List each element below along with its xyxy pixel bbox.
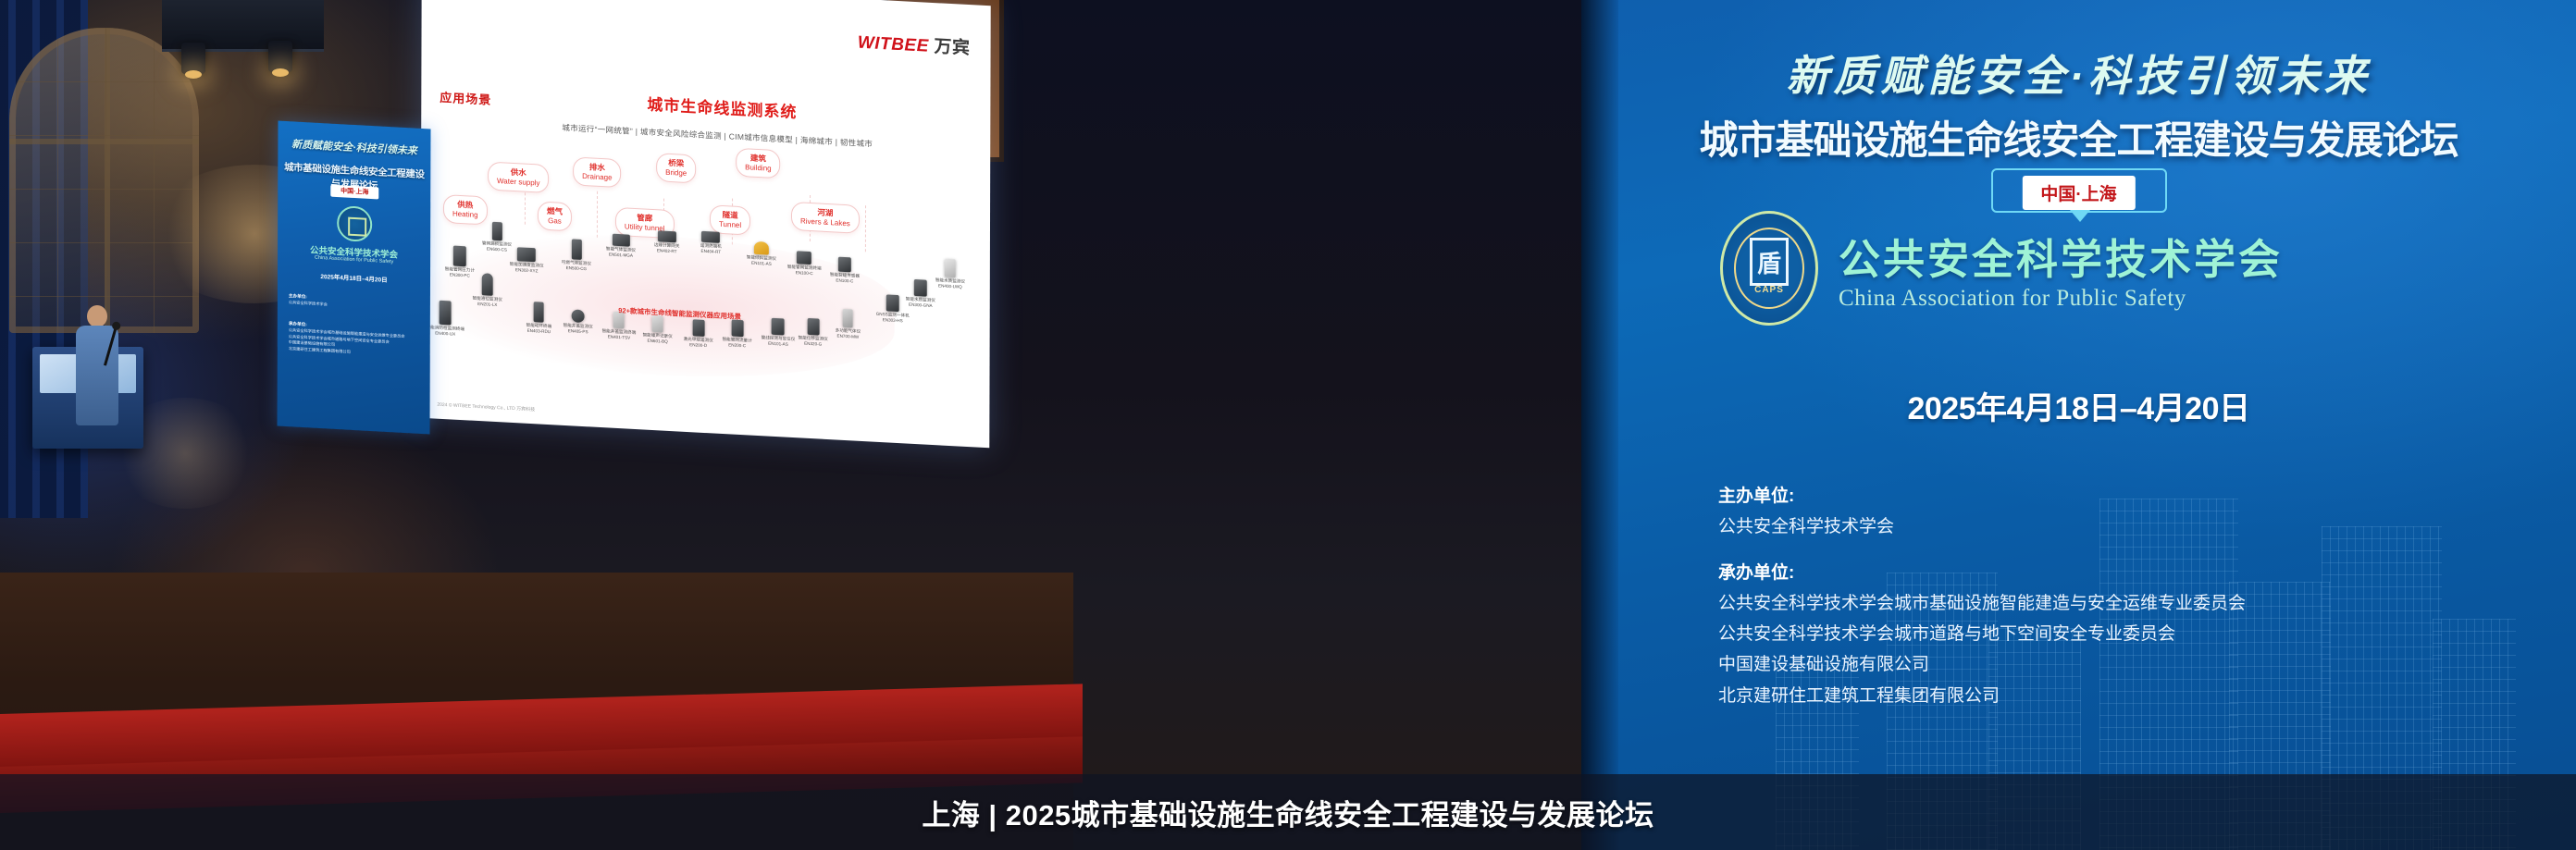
device-item[interactable]: 智能加速度监测仪EN302-XYZ bbox=[510, 247, 544, 275]
bubble-water-supply[interactable]: 供水 Water supply bbox=[488, 162, 549, 193]
caps-seal-icon: 盾 CAPS bbox=[1720, 211, 1818, 326]
poster-host: 公共安全科学技术学会 bbox=[289, 300, 328, 306]
slide-title: 城市生命线监测系统 bbox=[569, 87, 874, 126]
caption-bar: 上海 | 2025城市基础设施生命线安全工程建设与发展论坛 bbox=[0, 774, 2576, 850]
device-item[interactable]: 智能管网流量计EN200-C bbox=[723, 319, 752, 350]
bubble-tunnel[interactable]: 隧道 Tunnel bbox=[710, 204, 750, 235]
spotlight-1 bbox=[181, 43, 205, 74]
sensor-icon bbox=[482, 273, 493, 296]
device-item[interactable]: 边缘计算网关EN402-RT bbox=[654, 230, 680, 255]
bubble-label-en: Building bbox=[745, 163, 771, 174]
bubble-label-en: Bridge bbox=[665, 167, 687, 178]
device-model: EN404-RT bbox=[701, 249, 722, 254]
poster-host-block: 主办单位: 公共安全科学技术学会 bbox=[289, 292, 423, 314]
device-item[interactable]: 智能水质监测仪EN400-LWQ bbox=[935, 258, 965, 290]
device-name: 智能管网流量计 bbox=[723, 337, 752, 343]
caption-text: 上海 | 2025城市基础设施生命线安全工程建设与发展论坛 bbox=[922, 792, 1653, 833]
device-model: EN200-C bbox=[728, 343, 746, 349]
poster-slogan: 新质赋能安全·科技引领未来 bbox=[283, 136, 425, 158]
conference-photo: WITBEE 万宾 应用场景 城市生命线监测系统 城市运行“一网统管” | 城市… bbox=[0, 0, 2576, 850]
sensor-icon bbox=[571, 239, 581, 260]
device-model: EN303-HS bbox=[883, 317, 903, 323]
bubble-connector bbox=[865, 205, 866, 252]
device-item[interactable]: 管网漏损监测仪EN600-CS bbox=[482, 221, 512, 253]
banner-host: 公共安全科学技术学会 bbox=[1718, 511, 2246, 542]
device-model: EN501-MGA bbox=[609, 253, 633, 258]
device-model: EN100-C bbox=[796, 270, 813, 276]
banner-assoc-cn: 公共安全科学技术学会 bbox=[1839, 226, 2283, 286]
device-name: 激光甲烷遥测仪 bbox=[684, 337, 713, 343]
bubble-label-en: Water supply bbox=[497, 177, 539, 188]
presentation-slide: WITBEE 万宾 应用场景 城市生命线监测系统 城市运行“一网统管” | 城市… bbox=[420, 0, 990, 448]
slide-footer: 2024 © WITBEE Technology Co., LTD 万宾科技 bbox=[437, 401, 535, 413]
sensor-icon bbox=[491, 222, 502, 241]
device-name: 智能管网监测终端 bbox=[787, 265, 822, 271]
device-model: EN400-LWQ bbox=[938, 284, 962, 289]
gateway-icon bbox=[701, 231, 720, 243]
bubble-label-cn: 隧道 bbox=[719, 210, 741, 221]
sensor-icon bbox=[692, 319, 704, 337]
arched-window bbox=[9, 28, 199, 333]
banner-organizer: 公共安全科学技术学会城市基础设施智能建造与安全运维专业委员会 bbox=[1718, 588, 2246, 619]
sensor-icon bbox=[797, 251, 811, 265]
device-name: 智能位移监测仪 bbox=[799, 335, 828, 341]
sensor-icon bbox=[838, 257, 851, 273]
device-model: EN320-G bbox=[804, 341, 822, 347]
gateway-icon bbox=[658, 230, 676, 242]
device-model: EN101-AS bbox=[751, 261, 772, 266]
sensor-icon bbox=[731, 319, 743, 337]
stage-led-poster: 新质赋能安全·科技引领未来 城市基础设施生命线安全工程建设与发展论坛 中国·上海… bbox=[278, 120, 431, 434]
banner-organizer: 中国建设基础设施有限公司 bbox=[1718, 649, 2246, 680]
device-model: EN405-PS bbox=[568, 328, 588, 334]
banner-slogan: 新质赋能安全·科技引领未来 bbox=[1581, 43, 2576, 104]
device-item[interactable]: 智能位移监测仪EN320-G bbox=[799, 317, 828, 348]
presenter-head bbox=[87, 305, 107, 327]
banner-organizer: 北京建研住工建筑工程集团有限公司 bbox=[1718, 681, 2246, 711]
device-model: EN300-PC bbox=[450, 273, 470, 278]
device-item[interactable]: 可燃气体监测仪EN500-CG bbox=[562, 239, 591, 273]
window-grid bbox=[9, 28, 199, 333]
device-name: 智能消防栓监测终端 bbox=[427, 325, 464, 331]
bubble-heating[interactable]: 供热 Heating bbox=[443, 194, 488, 225]
bubble-drainage[interactable]: 排水 Drainage bbox=[573, 156, 622, 187]
device-model: EN401-TSV bbox=[608, 335, 631, 340]
bubble-gas[interactable]: 燃气 Gas bbox=[538, 201, 572, 231]
device-item[interactable]: 遥测终端机EN404-RT bbox=[700, 231, 722, 256]
poster-caps-seal bbox=[337, 205, 372, 242]
caps-abbr: CAPS bbox=[1723, 285, 1815, 295]
device-model: EN600-CS bbox=[487, 247, 507, 253]
spacer bbox=[1718, 543, 2246, 558]
banner-date: 2025年4月18日–4月20日 bbox=[1581, 383, 2576, 428]
banner-association-text: 公共安全科学技术学会 China Association for Public … bbox=[1839, 226, 2283, 312]
banner-organizer-label: 承办单位: bbox=[1718, 558, 2246, 588]
slide-scene-badge: 应用场景 bbox=[440, 88, 491, 108]
banner-organizer: 公共安全科学技术学会城市道路与地下空间安全专业委员会 bbox=[1718, 619, 2246, 649]
poster-location-chip: 中国·上海 bbox=[330, 185, 378, 200]
device-item[interactable]: 激光甲烷遥测仪EN200-D bbox=[684, 319, 713, 350]
banner-organizations: 主办单位: 公共安全科学技术学会 承办单位: 公共安全科学技术学会城市基础设施智… bbox=[1718, 481, 2246, 711]
device-item[interactable]: 智能动环终端EN403-RDU bbox=[526, 302, 552, 336]
sensor-icon bbox=[843, 309, 853, 328]
bubble-label-en: Gas bbox=[547, 216, 563, 227]
device-model: EN500-CG bbox=[566, 265, 587, 271]
device-name: 管线探测与定位仪 bbox=[762, 335, 796, 341]
device-item[interactable]: 智能消防栓监测终端EN400-UX bbox=[427, 300, 464, 339]
caps-seal-glyph: 盾 bbox=[1750, 238, 1789, 286]
witbee-logo-en: WITBEE bbox=[858, 33, 929, 56]
banner-assoc-en: China Association for Public Safety bbox=[1839, 286, 2283, 312]
sensor-icon bbox=[945, 259, 956, 278]
device-model: EN201-LX bbox=[477, 302, 497, 307]
banner-location-chip: 中国·上海 bbox=[2022, 176, 2135, 210]
witbee-logo: WITBEE 万宾 bbox=[858, 29, 971, 59]
sensor-icon bbox=[453, 246, 466, 267]
device-model: EN200-D bbox=[689, 342, 707, 348]
device-name: 智能裂缝传感器 bbox=[830, 272, 860, 278]
event-banner: 新质赋能安全·科技引领未来 城市基础设施生命线安全工程建设与发展论坛 中国·上海… bbox=[1581, 0, 2576, 850]
device-name: GNSS监测一体机 bbox=[876, 312, 910, 318]
spotlight-2 bbox=[268, 41, 292, 72]
poster-organizer-block: 承办单位: 公共安全科学技术学会城市基础设施智能建造与安全运维专业委员会 公共安… bbox=[289, 320, 423, 359]
device-name: 遥测终端机 bbox=[700, 243, 722, 249]
sensor-dome-icon bbox=[754, 241, 769, 255]
sensor-icon bbox=[914, 279, 927, 297]
poster-date: 2025年4月18日–4月20日 bbox=[281, 269, 427, 287]
bubble-label-en: Rivers & Lakes bbox=[800, 216, 850, 228]
device-model: EN101-AS bbox=[768, 341, 788, 347]
bubble-label-cn: 燃气 bbox=[547, 206, 563, 217]
bubble-connector bbox=[597, 191, 598, 238]
device-item[interactable]: 智能管网压力计EN300-PC bbox=[445, 245, 475, 279]
bubble-label-en: Heating bbox=[452, 209, 478, 219]
witbee-logo-cn: 万宾 bbox=[935, 37, 971, 58]
sensor-icon bbox=[652, 315, 663, 333]
sensor-icon bbox=[440, 301, 452, 326]
bubble-rivers-lakes[interactable]: 河湖 Rivers & Lakes bbox=[791, 202, 860, 234]
device-item[interactable]: 智能液位监测仪EN201-LX bbox=[473, 273, 502, 309]
device-item[interactable]: GNSS监测一体机EN303-HS bbox=[876, 294, 910, 325]
device-model: EN300-GNA bbox=[909, 302, 933, 308]
banner-association-row: 盾 CAPS 公共安全科学技术学会 China Association for … bbox=[1720, 211, 2283, 326]
device-item[interactable]: 智能管网监测终端EN100-C bbox=[787, 251, 822, 277]
device-item[interactable]: 多功能气体仪EN700-MW bbox=[836, 308, 861, 340]
banner-host-label: 主办单位: bbox=[1718, 481, 2246, 511]
bubble-label-en: Tunnel bbox=[719, 219, 741, 229]
bubble-label-en: Drainage bbox=[582, 172, 612, 183]
device-model: EN302-XYZ bbox=[515, 267, 539, 273]
bubble-label-cn: 桥梁 bbox=[665, 158, 687, 169]
device-model: EN400-UX bbox=[435, 331, 455, 337]
device-model: EN402-RT bbox=[657, 248, 677, 253]
device-item[interactable]: 智能水质监测仪EN300-GNA bbox=[906, 278, 935, 309]
device-model: EN601-BQ bbox=[648, 339, 668, 344]
led-screen-wrapper: WITBEE 万宾 应用场景 城市生命线监测系统 城市运行“一网统管” | 城市… bbox=[421, 0, 995, 451]
banner-forum-title: 城市基础设施生命线安全工程建设与发展论坛 bbox=[1581, 109, 2576, 166]
sensor-icon bbox=[517, 247, 536, 262]
device-model: EN700-MW bbox=[837, 334, 860, 339]
device-item[interactable]: 智能噪声记录仪EN601-BQ bbox=[643, 314, 673, 345]
sensor-icon bbox=[886, 294, 899, 312]
device-item[interactable]: 智能倾斜监测仪EN101-AS bbox=[747, 240, 776, 267]
sensor-icon bbox=[612, 234, 629, 247]
device-model: EN403-RDU bbox=[527, 328, 551, 334]
bubble-building[interactable]: 建筑 Building bbox=[736, 148, 781, 179]
device-model: EN100-C bbox=[836, 278, 853, 284]
sensor-icon bbox=[807, 318, 819, 336]
device-item[interactable]: 智能裂缝传感器EN100-C bbox=[830, 256, 860, 285]
device-item[interactable]: 智能气体监测仪EN501-MGA bbox=[606, 233, 636, 259]
sensor-icon bbox=[534, 302, 544, 323]
bubble-bridge[interactable]: 桥梁 Bridge bbox=[656, 153, 696, 183]
